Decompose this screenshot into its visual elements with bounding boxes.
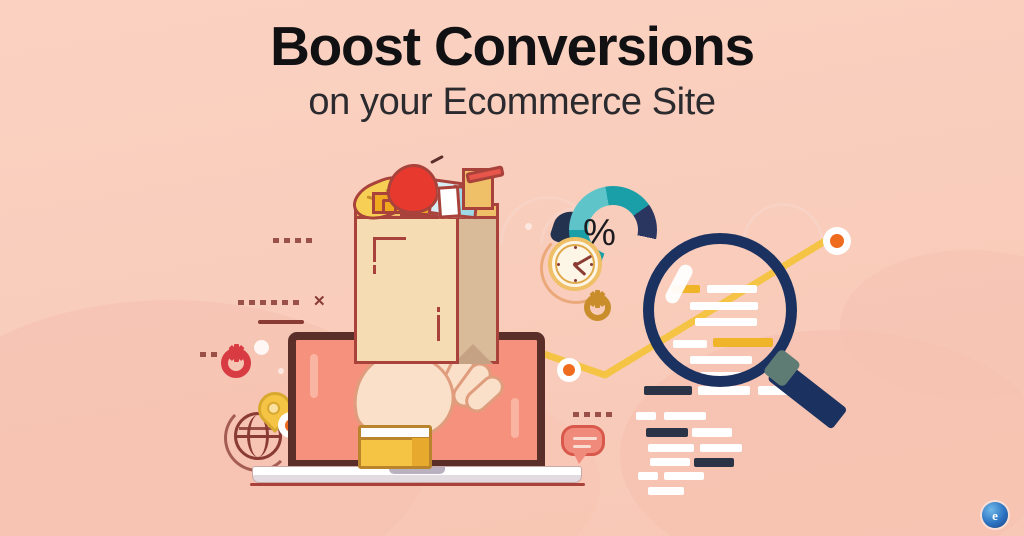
text-bar xyxy=(636,412,656,420)
text-bar xyxy=(648,444,694,452)
logo-mark: e xyxy=(992,509,998,522)
apple-item xyxy=(387,164,439,214)
text-bar xyxy=(692,428,732,437)
text-bar xyxy=(664,472,704,480)
text-bar xyxy=(648,487,684,495)
page-title: Boost Conversions xyxy=(0,18,1024,75)
page-subtitle: on your Ecommerce Site xyxy=(0,83,1024,123)
gear-icon xyxy=(584,294,611,321)
chat-bubble-icon xyxy=(561,425,605,456)
text-bar xyxy=(638,472,658,480)
text-bar xyxy=(646,428,688,437)
laptop-shadow xyxy=(250,483,585,486)
grocery-bag xyxy=(354,216,459,364)
text-bar xyxy=(644,386,692,395)
headline-block: Boost Conversions on your Ecommerce Site xyxy=(0,18,1024,123)
bag-side-panel xyxy=(456,216,499,364)
text-bar xyxy=(694,458,734,467)
chart-point xyxy=(823,227,851,255)
text-bar xyxy=(650,458,690,466)
gear-icon xyxy=(221,348,251,378)
milk-carton-item xyxy=(437,185,461,218)
sleeve-cuff xyxy=(358,425,432,469)
text-bar xyxy=(700,444,742,452)
chart-point xyxy=(557,358,581,382)
logo-badge[interactable]: e xyxy=(982,502,1008,528)
text-bar xyxy=(698,386,750,395)
clock-icon xyxy=(548,237,602,291)
banner-root: Boost Conversions on your Ecommerce Site… xyxy=(0,0,1024,536)
text-bar xyxy=(664,412,706,420)
